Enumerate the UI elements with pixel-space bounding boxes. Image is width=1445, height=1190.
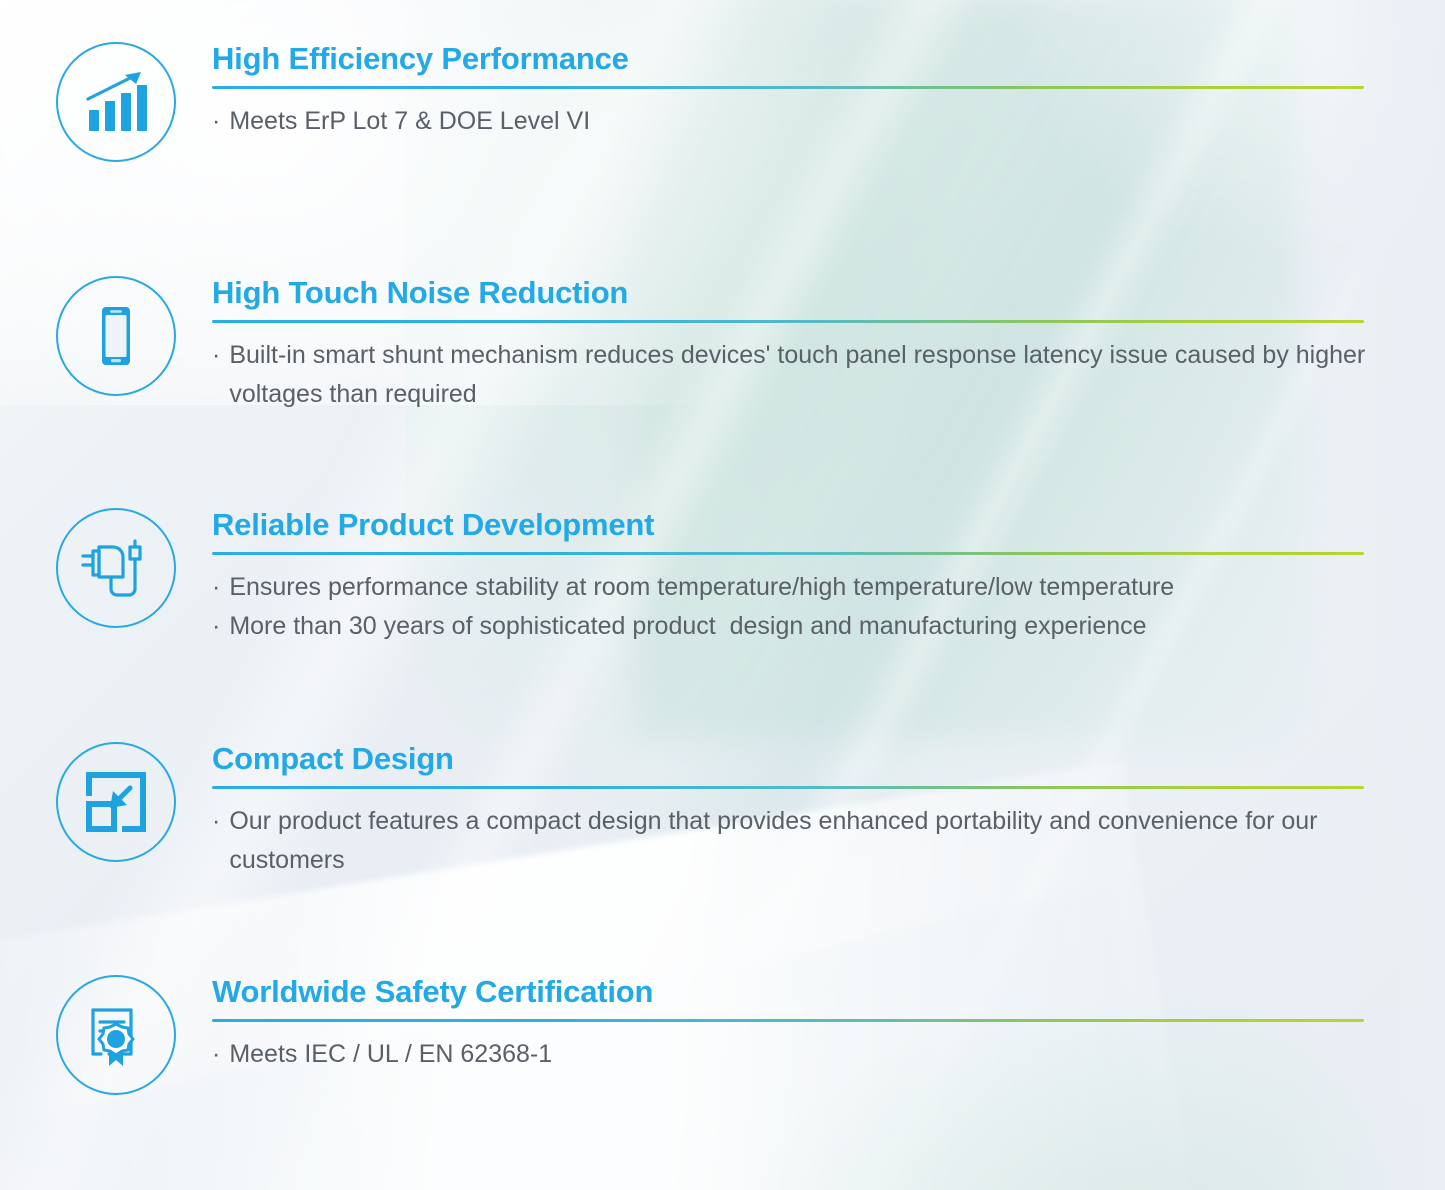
feature-highlights-page: High Efficiency Performance · Meets ErP … — [0, 0, 1445, 1190]
list-item: · Meets ErP Lot 7 & DOE Level VI — [212, 102, 1367, 141]
feature-item-high-efficiency-performance: High Efficiency Performance · Meets ErP … — [0, 42, 1367, 162]
list-item: · Built-in smart shunt mechanism reduces… — [212, 336, 1367, 414]
bullet-marker: · — [212, 607, 220, 646]
feature-item-high-touch-noise-reduction: High Touch Noise Reduction · Built-in sm… — [0, 276, 1367, 414]
bullet-text: Our product features a compact design th… — [229, 802, 1367, 880]
feature-icon-container — [52, 508, 180, 628]
feature-divider — [212, 552, 1364, 555]
list-item: · Ensures performance stability at room … — [212, 568, 1367, 607]
feature-text-block: Worldwide Safety Certification · Meets I… — [212, 975, 1367, 1074]
feature-title: High Touch Noise Reduction — [212, 276, 1367, 309]
feature-bullets: · Ensures performance stability at room … — [212, 568, 1367, 646]
feature-bullets: · Meets IEC / UL / EN 62368-1 — [212, 1035, 1367, 1074]
feature-divider — [212, 786, 1364, 789]
feature-title: High Efficiency Performance — [212, 42, 1367, 75]
feature-icon-container — [52, 975, 180, 1095]
feature-bullets: · Built-in smart shunt mechanism reduces… — [212, 336, 1367, 414]
compact-resize-icon — [56, 742, 176, 862]
feature-icon-container — [52, 742, 180, 862]
feature-divider — [212, 86, 1364, 89]
feature-item-worldwide-safety-certification: Worldwide Safety Certification · Meets I… — [0, 975, 1367, 1095]
feature-icon-container — [52, 276, 180, 396]
feature-text-block: High Touch Noise Reduction · Built-in sm… — [212, 276, 1367, 414]
list-item: · Our product features a compact design … — [212, 802, 1367, 880]
feature-text-block: High Efficiency Performance · Meets ErP … — [212, 42, 1367, 141]
bullet-marker: · — [212, 102, 220, 141]
list-item: · Meets IEC / UL / EN 62368-1 — [212, 1035, 1367, 1074]
feature-bullets: · Our product features a compact design … — [212, 802, 1367, 880]
bullet-marker: · — [212, 568, 220, 607]
feature-divider — [212, 1019, 1364, 1022]
certificate-seal-icon — [56, 975, 176, 1095]
feature-bullets: · Meets ErP Lot 7 & DOE Level VI — [212, 102, 1367, 141]
feature-title: Reliable Product Development — [212, 508, 1367, 541]
bar-chart-growth-icon — [56, 42, 176, 162]
bullet-marker: · — [212, 336, 220, 375]
list-item: · More than 30 years of sophisticated pr… — [212, 607, 1367, 646]
feature-title: Compact Design — [212, 742, 1367, 775]
feature-text-block: Compact Design · Our product features a … — [212, 742, 1367, 880]
bullet-text: Meets ErP Lot 7 & DOE Level VI — [229, 102, 1367, 141]
feature-divider — [212, 320, 1364, 323]
feature-item-compact-design: Compact Design · Our product features a … — [0, 742, 1367, 880]
bullet-text: More than 30 years of sophisticated prod… — [229, 607, 1367, 646]
feature-title: Worldwide Safety Certification — [212, 975, 1367, 1008]
bullet-marker: · — [212, 1035, 220, 1074]
feature-icon-container — [52, 42, 180, 162]
smartphone-icon — [56, 276, 176, 396]
bullet-text: Meets IEC / UL / EN 62368-1 — [229, 1035, 1367, 1074]
bullet-marker: · — [212, 802, 220, 841]
feature-text-block: Reliable Product Development · Ensures p… — [212, 508, 1367, 646]
power-adapter-icon — [56, 508, 176, 628]
bullet-text: Ensures performance stability at room te… — [229, 568, 1367, 607]
feature-item-reliable-product-development: Reliable Product Development · Ensures p… — [0, 508, 1367, 646]
bullet-text: Built-in smart shunt mechanism reduces d… — [229, 336, 1367, 414]
